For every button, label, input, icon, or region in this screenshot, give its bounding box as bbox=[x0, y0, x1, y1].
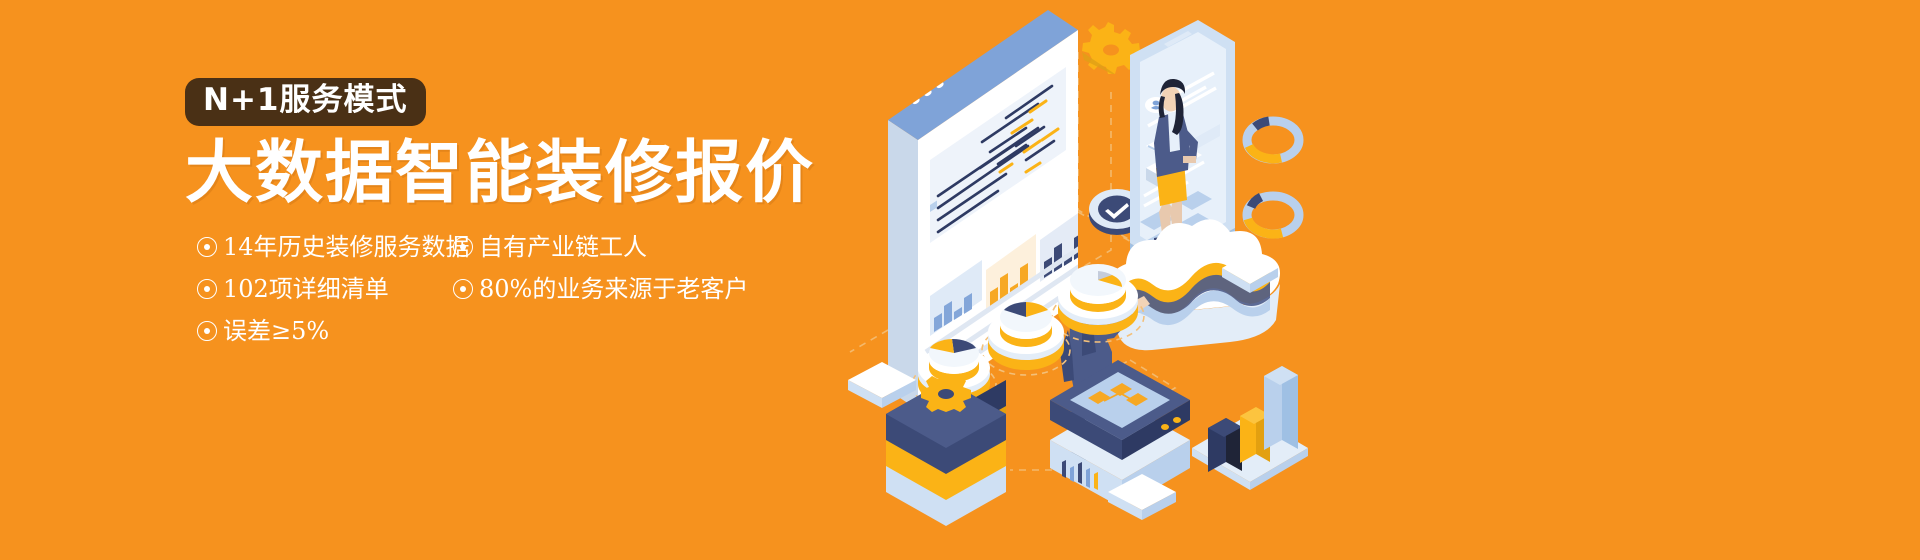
list-item: 自有产业链工人 bbox=[453, 234, 647, 260]
bullet-row: 102项详细清单 80%的业务来源于老客户 bbox=[197, 276, 885, 302]
page-title: 大数据智能装修报价 bbox=[185, 140, 885, 208]
circle-dot-icon bbox=[453, 237, 473, 257]
list-item-label: 自有产业链工人 bbox=[479, 234, 647, 260]
list-item-label: 80%的业务来源于老客户 bbox=[479, 276, 748, 302]
feature-bullet-list: 14年历史装修服务数据 自有产业链工人 102项详细清单 80%的业务来源于老客… bbox=[197, 234, 885, 344]
circle-dot-icon bbox=[197, 279, 217, 299]
promo-banner: N+1服务模式 大数据智能装修报价 14年历史装修服务数据 自有产业链工人 10… bbox=[0, 0, 1920, 560]
banner-text-block: N+1服务模式 大数据智能装修报价 14年历史装修服务数据 自有产业链工人 10… bbox=[185, 78, 885, 360]
big-data-isometric-illustration bbox=[830, 0, 1470, 560]
bullet-row: 14年历史装修服务数据 自有产业链工人 bbox=[197, 234, 885, 260]
list-item: 误差≥5% bbox=[197, 318, 453, 344]
donut-ring-chart-upper bbox=[1247, 121, 1299, 159]
circle-dot-icon bbox=[197, 321, 217, 341]
list-item-label: 误差≥5% bbox=[223, 318, 329, 344]
circle-dot-icon bbox=[197, 237, 217, 257]
bar-chart-3d bbox=[1192, 366, 1308, 490]
list-item-label: 14年历史装修服务数据 bbox=[223, 234, 470, 260]
service-model-badge: N+1服务模式 bbox=[185, 78, 426, 126]
gear-icon bbox=[921, 376, 971, 412]
list-item-label: 102项详细清单 bbox=[223, 276, 389, 302]
list-item: 14年历史装修服务数据 bbox=[197, 234, 453, 260]
bullet-row: 误差≥5% bbox=[197, 318, 885, 344]
circle-dot-icon bbox=[453, 279, 473, 299]
list-item: 80%的业务来源于老客户 bbox=[453, 276, 748, 302]
donut-ring-chart-lower bbox=[1247, 196, 1299, 234]
list-item: 102项详细清单 bbox=[197, 276, 453, 302]
